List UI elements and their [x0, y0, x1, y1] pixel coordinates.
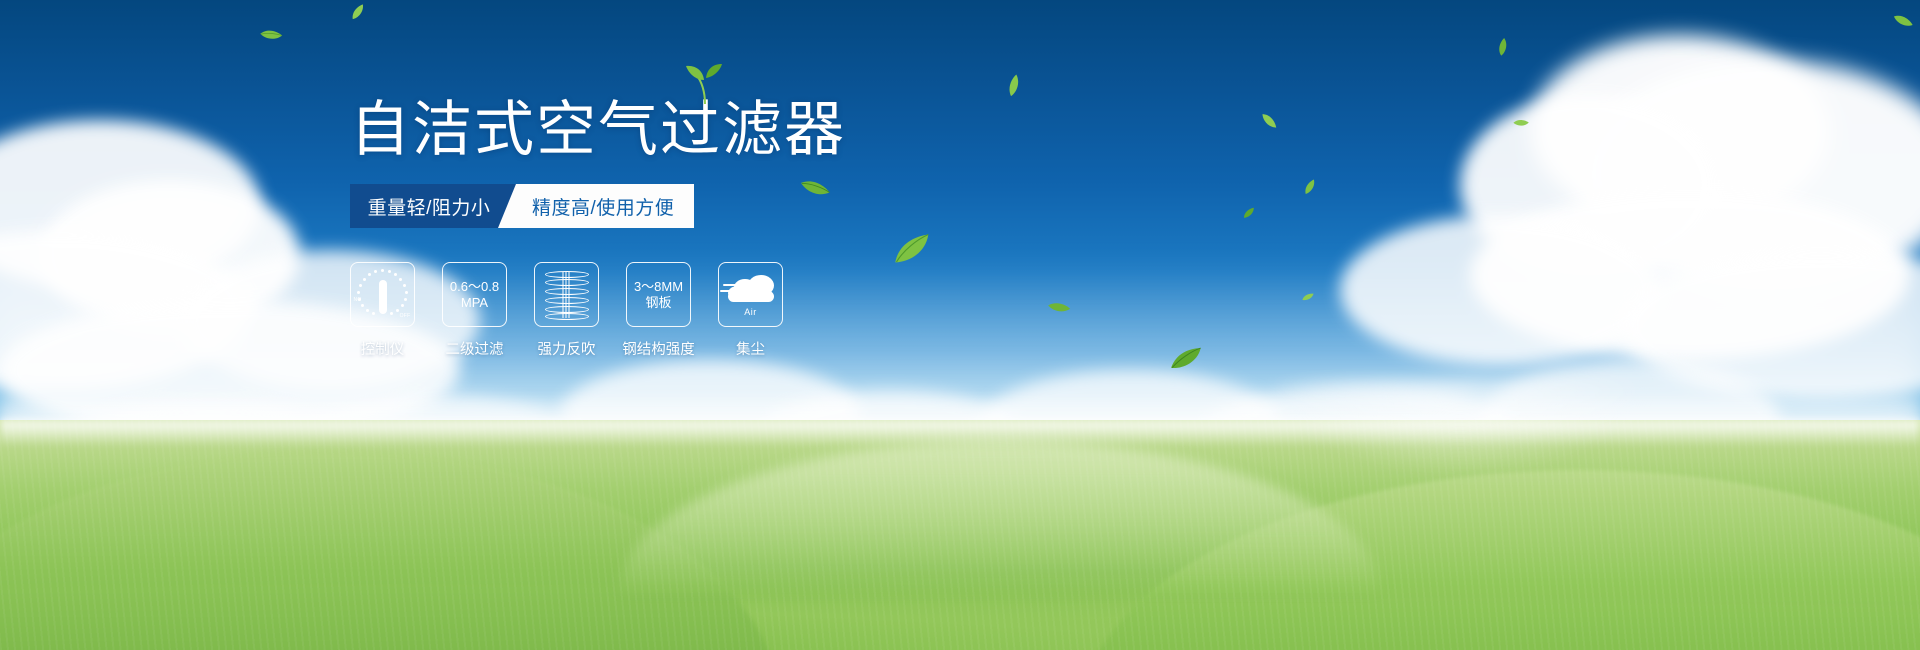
feature-icon-box: 0.6～0.8 MPA: [442, 262, 507, 327]
gauge-icon: NO OFF: [355, 267, 411, 323]
badge-row: 重量轻/阻力小 精度高/使用方便: [350, 184, 970, 228]
feature-box-text: 3～8MM 钢板: [634, 279, 683, 310]
leaf-icon: [1301, 178, 1320, 196]
page-title: 自洁式空气过滤器: [350, 100, 846, 160]
feature-reverse-blow: 强力反吹: [534, 262, 599, 359]
steel-material: 钢板: [634, 295, 683, 310]
leaf-icon: [1494, 37, 1512, 58]
leaf-icon: [258, 25, 283, 45]
cloud-air-icon: Air: [726, 273, 776, 317]
badge-weight-resistance: 重量轻/阻力小: [350, 184, 516, 228]
feature-label: 控制仪: [361, 338, 405, 359]
feature-secondary-filter: 0.6～0.8 MPA 二级过滤: [442, 262, 507, 359]
gauge-label-off: OFF: [400, 313, 411, 319]
feature-label: 集尘: [736, 338, 765, 359]
air-label: Air: [726, 307, 776, 317]
cloud-right-5: [1340, 215, 1660, 365]
feature-box-text: 0.6～0.8 MPA: [450, 279, 499, 310]
feature-controller: NO OFF 控制仪: [350, 262, 415, 359]
feature-label: 钢结构强度: [622, 338, 695, 359]
gauge-needle: [379, 280, 387, 314]
pressure-value: 0.6～0.8: [450, 279, 499, 294]
steel-thickness: 3～8MM: [634, 279, 683, 294]
feature-icon-box: 3～8MM 钢板: [626, 262, 691, 327]
leaf-sprout-icon: [682, 64, 728, 109]
feature-icon-box: NO OFF: [350, 262, 415, 327]
feature-row: NO OFF 控制仪 0.6～0.8 MPA 二级过滤: [350, 262, 970, 359]
feature-icon-box: Air: [718, 262, 783, 327]
hero-banner: 自洁式空气过滤器 重量轻/阻力小 精度高/使用方便: [0, 0, 1920, 650]
feature-label: 强力反吹: [538, 338, 596, 359]
grass-field: [0, 420, 1920, 650]
feature-label: 二级过滤: [446, 338, 504, 359]
sun-ray: [1250, 380, 1670, 560]
leaf-icon: [348, 3, 369, 21]
title-wrap: 自洁式空气过滤器: [350, 100, 846, 160]
leaf-icon: [1260, 110, 1278, 132]
feature-steel-strength: 3～8MM 钢板 钢结构强度: [626, 262, 691, 359]
leaf-icon: [1003, 73, 1026, 98]
feature-icon-box: [534, 262, 599, 327]
banner-content: 自洁式空气过滤器 重量轻/阻力小 精度高/使用方便: [350, 100, 970, 359]
badge-precision-convenience: 精度高/使用方便: [498, 184, 694, 228]
leaf-icon: [1241, 206, 1257, 219]
coil-icon: [545, 270, 589, 320]
gauge-label-no: NO: [354, 297, 362, 303]
leaf-icon: [1892, 10, 1915, 33]
pressure-unit: MPA: [450, 295, 499, 310]
feature-dust-collection: Air 集尘: [718, 262, 783, 359]
